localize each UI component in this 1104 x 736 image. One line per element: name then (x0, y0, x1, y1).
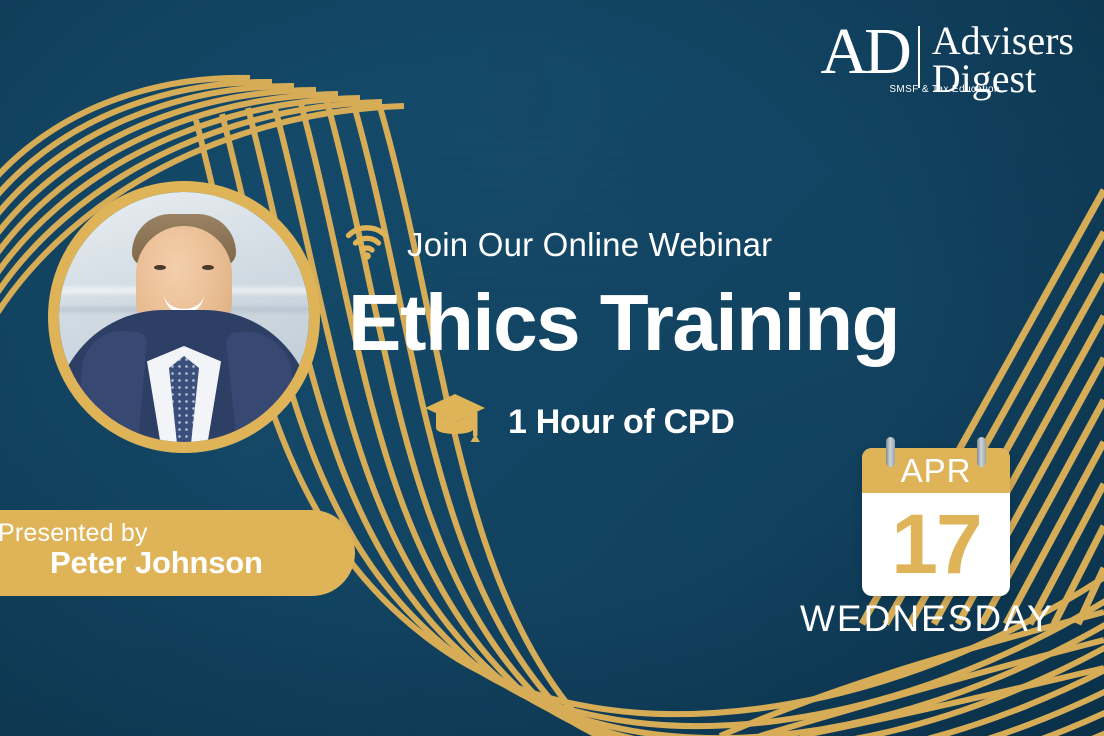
cpd-row: 1 Hour of CPD (424, 392, 735, 453)
calendar-pin-right (977, 437, 986, 467)
logo-tagline: SMSF & Tax Education (889, 84, 1000, 95)
presenter-portrait (48, 181, 320, 453)
logo-word-advisers: Advisers (932, 22, 1074, 60)
logo-monogram: AD (820, 22, 907, 83)
portrait-gold-ring (48, 181, 320, 453)
page-title: Ethics Training (348, 283, 899, 363)
wifi-icon (345, 224, 389, 265)
eyebrow-text: Join Our Online Webinar (407, 226, 772, 264)
presenter-banner: Presented by Peter Johnson (0, 510, 355, 596)
event-date-calendar: APR 17 (862, 448, 1010, 596)
presenter-label: Presented by (0, 520, 355, 546)
webinar-eyebrow: Join Our Online Webinar (345, 224, 772, 265)
calendar-day: 17 (862, 493, 1010, 596)
calendar-month: APR (862, 448, 1010, 493)
graduation-cap-icon (424, 392, 486, 453)
logo-divider (918, 26, 920, 88)
presenter-name: Peter Johnson (50, 546, 355, 580)
calendar-pin-left (886, 437, 895, 467)
webinar-promo-banner: AD Advisers Digest SMSF & Tax Education (0, 0, 1104, 736)
cpd-text: 1 Hour of CPD (508, 403, 735, 442)
event-weekday: WEDNESDAY (800, 598, 1054, 640)
